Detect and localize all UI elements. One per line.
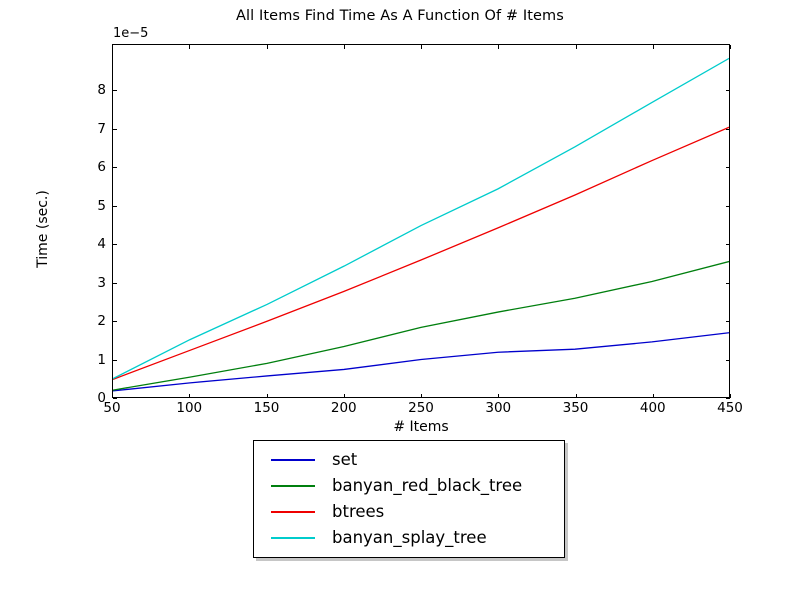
y-tick-mark-right [726, 90, 730, 91]
y-tick-mark [113, 206, 117, 207]
x-tick-mark [576, 394, 577, 398]
y-tick-mark-right [726, 360, 730, 361]
y-tick-label: 8 [97, 82, 106, 98]
y-tick-label: 2 [97, 313, 106, 329]
legend-color-swatch [271, 511, 315, 513]
y-tick-label: 3 [97, 275, 106, 291]
x-tick-mark-top [112, 45, 113, 49]
x-tick-label: 150 [254, 400, 280, 416]
x-tick-label: 250 [408, 400, 434, 416]
x-tick-mark [189, 394, 190, 398]
line-series [113, 333, 729, 391]
x-tick-mark-top [267, 45, 268, 49]
legend-item-label: banyan_splay_tree [332, 530, 487, 547]
legend-color-swatch [271, 537, 315, 539]
legend-item-label: banyan_red_black_tree [332, 478, 522, 495]
y-axis-label: Time (sec.) [35, 149, 51, 309]
legend-item[interactable]: set [254, 447, 564, 473]
x-tick-mark [421, 394, 422, 398]
x-tick-mark-top [498, 45, 499, 49]
x-tick-label: 200 [331, 400, 357, 416]
legend-item[interactable]: btrees [254, 499, 564, 525]
y-tick-mark [113, 129, 117, 130]
y-tick-mark-right [726, 167, 730, 168]
x-tick-mark [730, 394, 731, 398]
x-tick-mark-top [189, 45, 190, 49]
line-series [113, 262, 729, 391]
y-axis-offset-exponent: 1e−5 [113, 26, 148, 41]
legend: setbanyan_red_black_treebtreesbanyan_spl… [253, 440, 565, 558]
y-tick-label: 7 [97, 121, 106, 137]
plot-area [112, 44, 730, 398]
x-tick-mark-top [576, 45, 577, 49]
x-tick-mark-top [653, 45, 654, 49]
y-tick-label: 6 [97, 159, 106, 175]
x-tick-label: 400 [640, 400, 666, 416]
y-tick-label: 4 [97, 236, 106, 252]
x-tick-mark-top [421, 45, 422, 49]
page-title: All Items Find Time As A Function Of # I… [0, 8, 800, 24]
y-tick-mark-right [726, 321, 730, 322]
x-tick-label: 350 [563, 400, 589, 416]
matplotlib-figure: All Items Find Time As A Function Of # I… [0, 0, 800, 600]
y-tick-mark-right [726, 244, 730, 245]
x-tick-mark [653, 394, 654, 398]
y-tick-mark [113, 167, 117, 168]
x-tick-label: 450 [717, 400, 743, 416]
x-tick-mark [498, 394, 499, 398]
legend-item[interactable]: banyan_splay_tree [254, 525, 564, 551]
y-tick-mark-right [726, 283, 730, 284]
y-tick-mark-right [726, 206, 730, 207]
y-tick-mark [113, 244, 117, 245]
x-tick-mark-top [730, 45, 731, 49]
x-tick-label: 300 [485, 400, 511, 416]
legend-color-swatch [271, 485, 315, 487]
y-tick-label: 5 [97, 198, 106, 214]
x-tick-label: 100 [176, 400, 202, 416]
y-tick-label: 1 [97, 352, 106, 368]
y-tick-label: 0 [97, 390, 106, 406]
line-series [113, 58, 729, 378]
y-tick-mark [113, 90, 117, 91]
y-tick-mark-right [726, 129, 730, 130]
legend-item-label: set [332, 452, 357, 469]
x-tick-mark [344, 394, 345, 398]
y-tick-mark [113, 321, 117, 322]
x-tick-mark-top [344, 45, 345, 49]
y-tick-mark [113, 283, 117, 284]
legend-item[interactable]: banyan_red_black_tree [254, 473, 564, 499]
legend-item-label: btrees [332, 504, 384, 521]
x-tick-mark [267, 394, 268, 398]
series-lines [113, 45, 729, 397]
y-tick-mark-right [726, 398, 730, 399]
x-axis-label: # Items [112, 419, 730, 435]
y-tick-mark [113, 360, 117, 361]
line-series [113, 127, 729, 379]
y-tick-mark [113, 398, 117, 399]
legend-color-swatch [271, 459, 315, 461]
